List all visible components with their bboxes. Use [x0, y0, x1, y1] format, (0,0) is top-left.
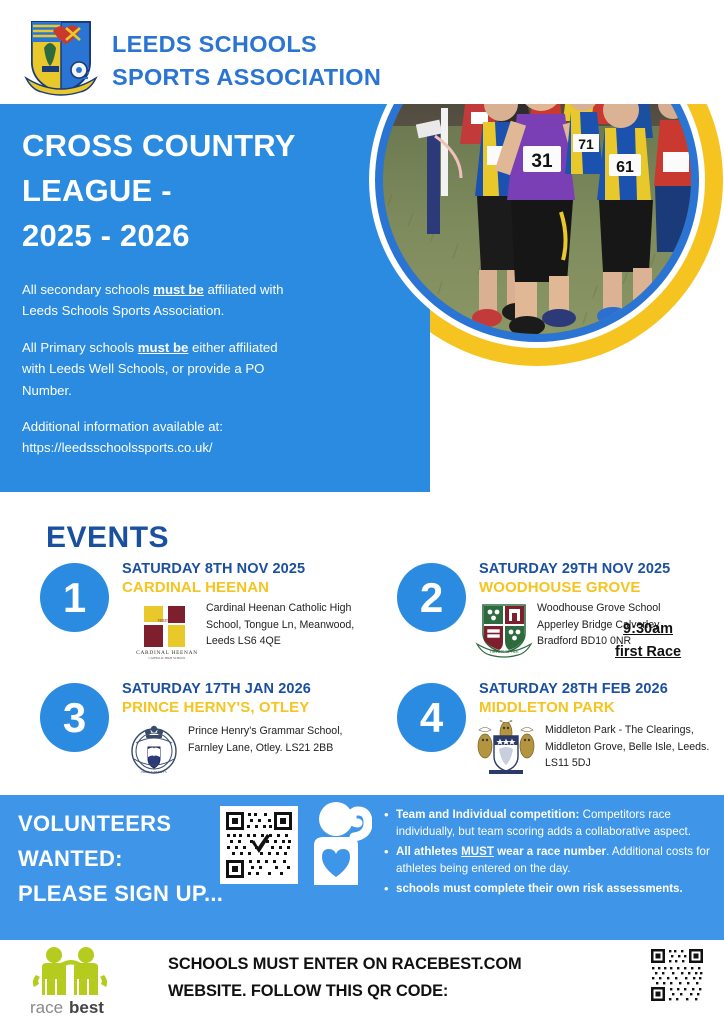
cardinal-heenan-logo-icon: VERITAS CARDINAL HEENAN CATHOLIC HIGH SC…	[136, 600, 198, 662]
info-paragraph-secondary: All secondary schools must be affiliated…	[22, 279, 292, 322]
rule-2-underline: MUST	[461, 845, 494, 858]
event-date-4: SATURDAY 28TH FEB 2026	[479, 681, 668, 697]
affiliation-info: All secondary schools must be affiliated…	[22, 279, 292, 474]
svg-text:VERITAS: VERITAS	[158, 619, 173, 623]
event-time-line1: 9:30am	[615, 618, 681, 641]
poster-main-title: CROSS COUNTRY LEAGUE - 2025 - 2026	[22, 124, 352, 259]
volunteers-line1: VOLUNTEERS	[18, 807, 223, 842]
event-number-badge-4: 4	[397, 683, 466, 752]
rule-1-bold: Team and Individual competition:	[396, 808, 579, 821]
svg-text:61: 61	[616, 159, 634, 176]
event-venue-4: MIDDLETON PARK	[479, 699, 615, 716]
svg-text:VIRTUTE ET FIDE: VIRTUTE ET FIDE	[489, 650, 519, 654]
rule-2-bold-a: All athletes	[396, 845, 461, 858]
event-card-4[interactable]: 4 SATURDAY 28TH FEB 2026 MIDDLETON PARK	[397, 678, 724, 790]
event-card-3[interactable]: 3 SATURDAY 17TH JAN 2026 PRINCE HERNY'S,…	[40, 678, 378, 790]
footer-instructions: SCHOOLS MUST ENTER ON RACEBEST.COM WEBSI…	[168, 951, 522, 1004]
event-number-badge-3: 3	[40, 683, 109, 752]
event-date-1: SATURDAY 8TH NOV 2025	[122, 561, 305, 577]
hero-info-panel: CROSS COUNTRY LEAGUE - 2025 - 2026 All s…	[0, 104, 430, 492]
rule-item-2: All athletes MUST wear a race number. Ad…	[382, 843, 716, 878]
woodhouse-grove-crest-icon: VIRTUTE ET FIDE	[475, 600, 533, 658]
must-be-emphasis-1: must be	[153, 282, 204, 297]
svg-text:CATHOLIC HIGH SCHOOL: CATHOLIC HIGH SCHOOL	[149, 656, 186, 660]
leedsschoolssports-url[interactable]: https://leedsschoolssports.co.uk/	[22, 440, 213, 455]
main-title-line2: LEAGUE -	[22, 169, 352, 214]
event-time-line2: first Race	[615, 641, 681, 664]
organisation-title: LEEDS SCHOOLS SPORTS ASSOCIATION	[112, 28, 381, 95]
info-paragraph-link: Additional information available at: htt…	[22, 416, 292, 459]
volunteers-line3: PLEASE SIGN UP...	[18, 877, 223, 912]
main-title-line1: CROSS COUNTRY	[22, 124, 352, 169]
must-be-emphasis-2: must be	[138, 340, 189, 355]
racebest-entry-qr-code[interactable]	[650, 948, 704, 1002]
racebest-word-best: best	[69, 998, 104, 1017]
volunteers-band: VOLUNTEERS WANTED: PLEASE SIGN UP...	[0, 795, 724, 936]
rule-item-1: Team and Individual competition: Competi…	[382, 806, 716, 841]
leeds-city-council-crest-icon	[475, 720, 537, 776]
event-address-4: Middleton Park - The Clearings, Middleto…	[545, 722, 720, 772]
lssa-crest-icon	[22, 16, 100, 96]
svg-text:31: 31	[531, 151, 553, 172]
event-date-2: SATURDAY 29TH NOV 2025	[479, 561, 670, 577]
prince-henrys-grammar-crest-icon: PRINCE HENRY'S	[126, 721, 182, 777]
info-paragraph-primary: All Primary schools must be either affil…	[22, 337, 292, 401]
footer-line1: SCHOOLS MUST ENTER ON RACEBEST.COM	[168, 951, 522, 978]
competition-rules-list: Team and Individual competition: Competi…	[382, 806, 716, 899]
event-card-2[interactable]: 2 SATURDAY 29TH NOV 2025 WOODHOUSE GROVE	[397, 558, 724, 670]
event-card-1[interactable]: 1 SATURDAY 8TH NOV 2025 CARDINAL HEENAN …	[40, 558, 378, 670]
org-title-line2: SPORTS ASSOCIATION	[112, 61, 381, 94]
events-section-heading: EVENTS	[46, 521, 169, 555]
event-date-3: SATURDAY 17TH JAN 2026	[122, 681, 311, 697]
rule-3-bold: schools must complete their own risk ass…	[396, 882, 683, 895]
event-venue-1: CARDINAL HEENAN	[122, 579, 269, 596]
volunteers-line2: WANTED:	[18, 842, 223, 877]
volunteers-heading: VOLUNTEERS WANTED: PLEASE SIGN UP...	[18, 807, 223, 911]
main-title-line3: 2025 - 2026	[22, 214, 352, 259]
event-address-1: Cardinal Heenan Catholic High School, To…	[206, 600, 381, 650]
event-venue-3: PRINCE HERNY'S, OTLEY	[122, 699, 309, 716]
poster-header: LEEDS SCHOOLS SPORTS ASSOCIATION	[0, 0, 724, 104]
rule-item-3: schools must complete their own risk ass…	[382, 880, 716, 897]
svg-text:71: 71	[578, 136, 594, 152]
poster-root: 31 61	[0, 0, 724, 1024]
volunteer-person-heart-icon	[310, 801, 372, 887]
racebest-logo: race best	[28, 945, 120, 1017]
rule-2-bold-b: wear a race number	[494, 845, 606, 858]
event-number-badge-2: 2	[397, 563, 466, 632]
volunteer-signup-qr-code[interactable]	[220, 806, 298, 884]
event-venue-2: WOODHOUSE GROVE	[479, 579, 641, 596]
event-address-3: Prince Henry's Grammar School, Farnley L…	[188, 723, 358, 756]
poster-footer: race best SCHOOLS MUST ENTER ON RACEBEST…	[0, 940, 724, 1024]
svg-text:PRINCE HENRY'S: PRINCE HENRY'S	[141, 770, 167, 774]
racebest-word-race: race	[30, 998, 63, 1017]
event-number-badge-1: 1	[40, 563, 109, 632]
footer-line2: WEBSITE. FOLLOW THIS QR CODE:	[168, 978, 522, 1005]
event-start-time-2: 9:30am first Race	[615, 618, 681, 664]
org-title-line1: LEEDS SCHOOLS	[112, 28, 381, 61]
